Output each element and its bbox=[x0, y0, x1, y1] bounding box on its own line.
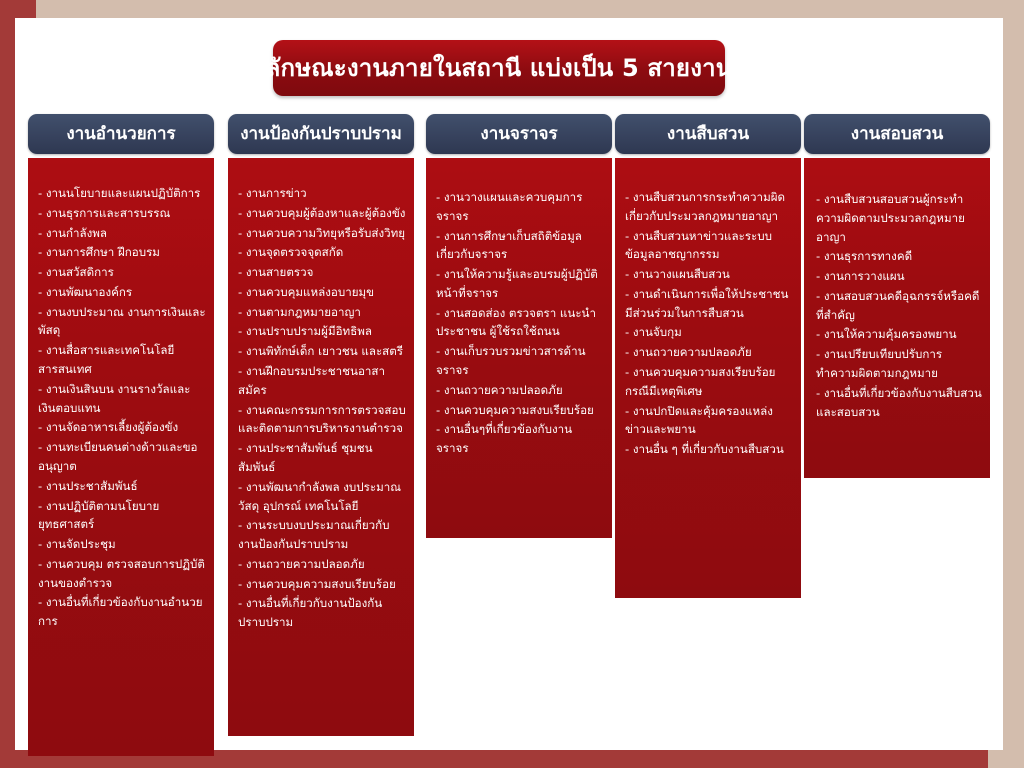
column-body-administration: - งานนโยบายและแผนปฏิบัติการ - งานธุรการแ… bbox=[28, 158, 214, 756]
column-header-label: งานอำนวยการ bbox=[66, 126, 175, 143]
list-item: - งานการศึกษาเก็บสถิติข้อมูลเกี่ยวกับจรา… bbox=[436, 227, 604, 265]
list-item: - งานทะเบียนคนต่างด้าวและขออนุญาต bbox=[38, 438, 206, 476]
list-item: - งานคณะกรรมการการตรวจสอบและติดตามการบริ… bbox=[238, 401, 406, 439]
list-item: - งานเก็บรวบรวมข่าวสารด้านจราจร bbox=[436, 342, 604, 380]
list-item: - งานฝึกอบรมประชาชนอาสาสมัคร bbox=[238, 362, 406, 400]
list-item: - งานสืบสวนสอบสวนผู้กระทำความผิดตามประมว… bbox=[816, 190, 982, 246]
list-item: - งานอื่นที่เกี่ยวข้องกับงานอำนวยการ bbox=[38, 593, 206, 631]
list-item: - งานวางแผนสืบสวน bbox=[625, 265, 793, 284]
list-item: - งานอื่นที่เกี่ยวกับงานป้องกันปราบปราม bbox=[238, 594, 406, 632]
list-item: - งานให้ความรู้และอบรมผู้ปฏิบัติหน้าที่จ… bbox=[436, 265, 604, 303]
column-header-label: งานสอบสวน bbox=[851, 126, 943, 143]
task-list-administration: - งานนโยบายและแผนปฏิบัติการ - งานธุรการแ… bbox=[38, 184, 206, 631]
list-item: - งานดำเนินการเพื่อให้ประชาชนมีส่วนร่วมใ… bbox=[625, 285, 793, 323]
list-item: - งานควบคุมความสงบเรียบร้อย bbox=[436, 401, 604, 420]
column-investigation: งานสืบสวน - งานสืบสวนการกระทำความผิดเกี่… bbox=[615, 114, 801, 598]
list-item: - งานควบความวิทยุหรือรับส่งวิทยุ bbox=[238, 224, 406, 243]
list-item: - งานเงินสินบน งานรางวัลและเงินตอบแทน bbox=[38, 380, 206, 418]
column-header-label: งานจราจร bbox=[480, 126, 557, 143]
list-item: - งานเปรียบเทียบปรับการทำความผิดตามกฎหมา… bbox=[816, 345, 982, 383]
list-item: - งานถวายความปลอดภัย bbox=[625, 343, 793, 362]
list-item: - งานสื่อสารและเทคโนโลยีสารสนเทศ bbox=[38, 341, 206, 379]
column-administration: งานอำนวยการ - งานนโยบายและแผนปฏิบัติการ … bbox=[28, 114, 214, 756]
list-item: - งานสืบสวนการกระทำความผิดเกี่ยวกับประมว… bbox=[625, 188, 793, 226]
list-item: - งานควบคุมความสงบเรียบร้อย bbox=[238, 575, 406, 594]
list-item: - งานจัดอาหารเลี้ยงผู้ต้องขัง bbox=[38, 418, 206, 437]
column-traffic: งานจราจร - งานวางแผนและควบคุมการจราจร - … bbox=[426, 114, 612, 538]
list-item: - งานปฏิบัติตามนโยบายยุทธศาสตร์ bbox=[38, 497, 206, 535]
list-item: - งานอื่น ๆ ที่เกี่ยวกับงานสืบสวน bbox=[625, 440, 793, 459]
list-item: - งานการศึกษา ฝึกอบรม bbox=[38, 243, 206, 262]
list-item: - งานถวายความปลอดภัย bbox=[238, 555, 406, 574]
list-item: - งานให้ความคุ้มครองพยาน bbox=[816, 325, 982, 344]
column-header-administration: งานอำนวยการ bbox=[28, 114, 214, 154]
list-item: - งานอื่นที่เกี่ยวข้องกับงานสืบสวนและสอบ… bbox=[816, 384, 982, 422]
list-item: - งานจุดตรวจจุดสกัด bbox=[238, 243, 406, 262]
list-item: - งานงบประมาณ งานการเงินและพัสดุ bbox=[38, 303, 206, 341]
list-item: - งานนโยบายและแผนปฏิบัติการ bbox=[38, 184, 206, 203]
slide-root: ลักษณะงานภายในสถานี แบ่งเป็น 5 สายงาน งา… bbox=[0, 0, 1024, 768]
task-list-investigation: - งานสืบสวนการกระทำความผิดเกี่ยวกับประมว… bbox=[625, 188, 793, 459]
column-body-traffic: - งานวางแผนและควบคุมการจราจร - งานการศึก… bbox=[426, 158, 612, 538]
list-item: - งานปกปิดและคุ้มครองแหล่งข่าวและพยาน bbox=[625, 402, 793, 440]
task-list-crime-prevention: - งานการข่าว - งานควบคุมผู้ต้องหาและผู้ต… bbox=[238, 184, 406, 632]
list-item: - งานประชาสัมพันธ์ bbox=[38, 477, 206, 496]
list-item: - งานจัดประชุม bbox=[38, 535, 206, 554]
column-header-label: งานสืบสวน bbox=[667, 126, 749, 143]
list-item: - งานสืบสวนหาข่าวและระบบข้อมูลอาชญากรรม bbox=[625, 227, 793, 265]
slide-title-banner: ลักษณะงานภายในสถานี แบ่งเป็น 5 สายงาน bbox=[273, 40, 725, 96]
list-item: - งานถวายความปลอดภัย bbox=[436, 381, 604, 400]
list-item: - งานพิทักษ์เด็ก เยาวชน และสตรี bbox=[238, 342, 406, 361]
list-item: - งานพัฒนากำลังพล งบประมาณ วัสดุ อุปกรณ์… bbox=[238, 478, 406, 516]
column-header-traffic: งานจราจร bbox=[426, 114, 612, 154]
list-item: - งานตามกฎหมายอาญา bbox=[238, 303, 406, 322]
list-item: - งานกำลังพล bbox=[38, 224, 206, 243]
list-item: - งานการข่าว bbox=[238, 184, 406, 203]
column-body-crime-prevention: - งานการข่าว - งานควบคุมผู้ต้องหาและผู้ต… bbox=[228, 158, 414, 736]
column-body-interrogation: - งานสืบสวนสอบสวนผู้กระทำความผิดตามประมว… bbox=[804, 158, 990, 478]
slide-content: ลักษณะงานภายในสถานี แบ่งเป็น 5 สายงาน งา… bbox=[15, 18, 1003, 750]
column-crime-prevention: งานป้องกันปราบปราม - งานการข่าว - งานควบ… bbox=[228, 114, 414, 736]
task-list-traffic: - งานวางแผนและควบคุมการจราจร - งานการศึก… bbox=[436, 188, 604, 458]
list-item: - งานสอดส่อง ตรวจตรา แนะนำประชาชน ผู้ใช้… bbox=[436, 304, 604, 342]
list-item: - งานประชาสัมพันธ์ ชุมชนสัมพันธ์ bbox=[238, 439, 406, 477]
page-title: ลักษณะงานภายในสถานี แบ่งเป็น 5 สายงาน bbox=[266, 55, 733, 81]
list-item: - งานสอบสวนคดีอุฉกรรจ์หรือคดีที่สำคัญ bbox=[816, 287, 982, 325]
list-item: - งานควบคุมผู้ต้องหาและผู้ต้องขัง bbox=[238, 204, 406, 223]
list-item: - งานควบคุมแหล่งอบายมุข bbox=[238, 283, 406, 302]
column-header-crime-prevention: งานป้องกันปราบปราม bbox=[228, 114, 414, 154]
list-item: - งานสายตรวจ bbox=[238, 263, 406, 282]
column-header-investigation: งานสืบสวน bbox=[615, 114, 801, 154]
list-item: - งานธุรการและสารบรรณ bbox=[38, 204, 206, 223]
list-item: - งานปราบปรามผู้มีอิทธิพล bbox=[238, 322, 406, 341]
task-list-interrogation: - งานสืบสวนสอบสวนผู้กระทำความผิดตามประมว… bbox=[816, 190, 982, 421]
column-body-investigation: - งานสืบสวนการกระทำความผิดเกี่ยวกับประมว… bbox=[615, 158, 801, 598]
list-item: - งานธุรการทางคดี bbox=[816, 247, 982, 266]
list-item: - งานควบคุมความสงเรียบร้อยกรณีมีเหตุพิเศ… bbox=[625, 363, 793, 401]
columns-container: งานอำนวยการ - งานนโยบายและแผนปฏิบัติการ … bbox=[15, 114, 1003, 750]
list-item: - งานควบคุม ตรวจสอบการปฏิบัติงานของตำรวจ bbox=[38, 555, 206, 593]
list-item: - งานสวัสดิการ bbox=[38, 263, 206, 282]
list-item: - งานระบบงบประมาณเกี่ยวกับงานป้องกันปราบ… bbox=[238, 516, 406, 554]
column-header-label: งานป้องกันปราบปราม bbox=[240, 126, 402, 143]
list-item: - งานจับกุม bbox=[625, 323, 793, 342]
list-item: - งานการวางแผน bbox=[816, 267, 982, 286]
list-item: - งานพัฒนาองค์กร bbox=[38, 283, 206, 302]
list-item: - งานอื่นๆที่เกี่ยวข้องกับงานจราจร bbox=[436, 420, 604, 458]
column-interrogation: งานสอบสวน - งานสืบสวนสอบสวนผู้กระทำความผ… bbox=[804, 114, 990, 478]
column-header-interrogation: งานสอบสวน bbox=[804, 114, 990, 154]
list-item: - งานวางแผนและควบคุมการจราจร bbox=[436, 188, 604, 226]
